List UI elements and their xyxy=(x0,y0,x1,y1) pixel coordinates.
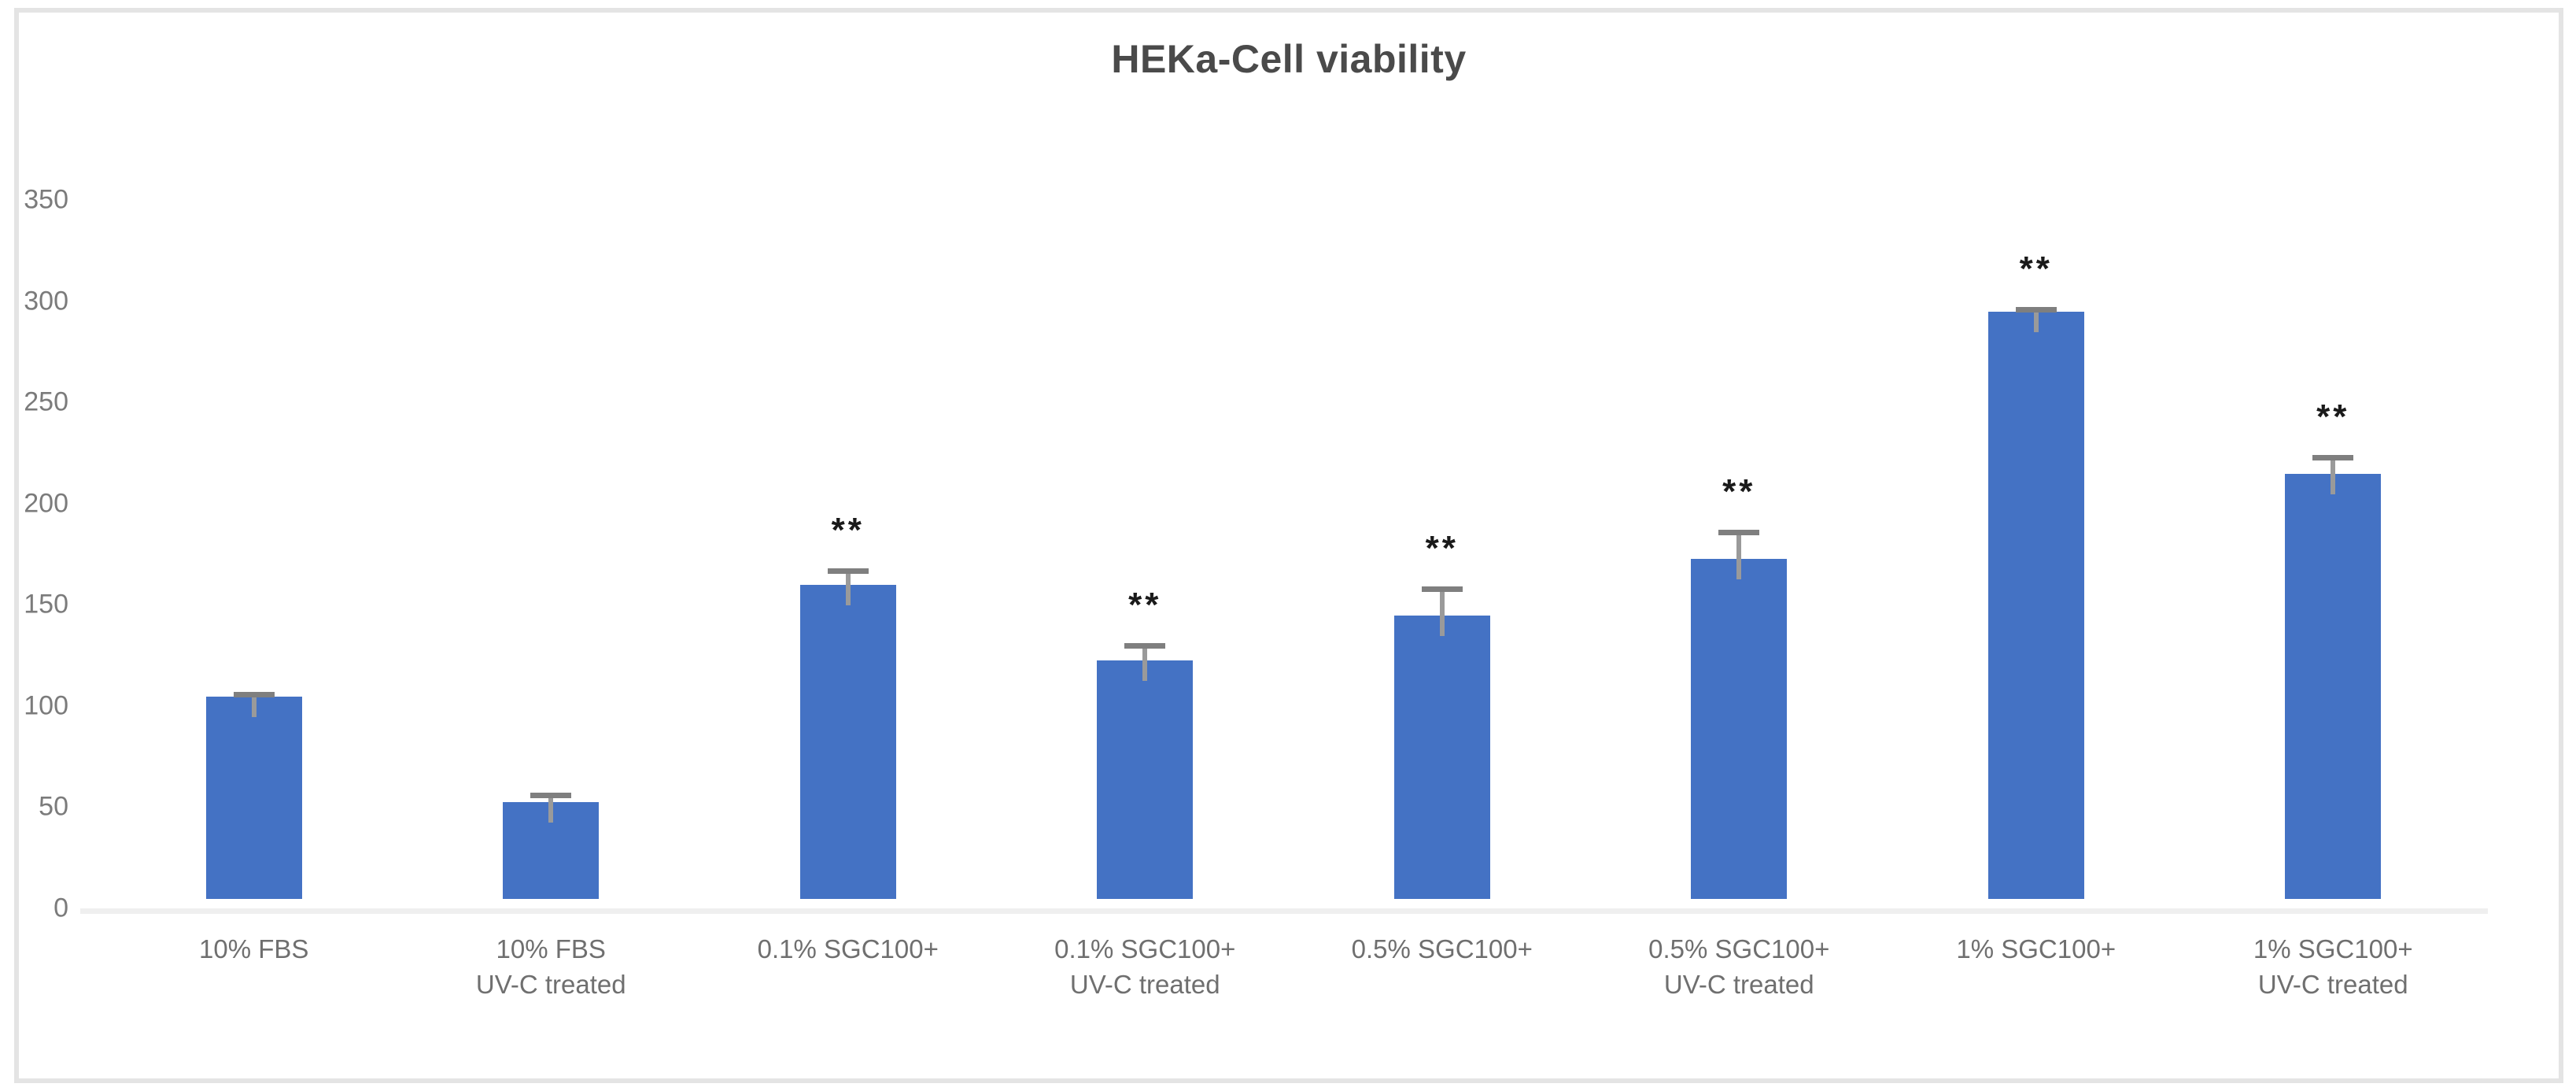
bar-group: ** xyxy=(1394,13,1490,1078)
y-axis-tick-label: 0 xyxy=(0,893,68,924)
bar xyxy=(1691,559,1787,899)
significance-marker: ** xyxy=(1691,475,1787,509)
bar xyxy=(2285,474,2381,899)
error-bar xyxy=(1736,530,1741,579)
significance-marker: ** xyxy=(1394,531,1490,566)
y-axis-tick-label: 50 xyxy=(0,792,68,823)
error-bar xyxy=(252,692,256,717)
chart-area: HEKa-Cell viability 05010015020025030035… xyxy=(19,13,2559,1078)
significance-marker: ** xyxy=(800,513,896,548)
figure-frame: HEKa-Cell viability 05010015020025030035… xyxy=(14,8,2563,1083)
bar xyxy=(1988,312,2084,899)
bar-group: ** xyxy=(1097,13,1193,1078)
x-axis-tick-label: 0.1% SGC100+ UV-C treated xyxy=(997,932,1294,1002)
error-bar-cap xyxy=(828,568,869,574)
error-bar-cap xyxy=(2016,307,2057,313)
bar-group xyxy=(503,13,599,1078)
x-axis-tick-label: 0.5% SGC100+ UV-C treated xyxy=(1591,932,1888,1002)
bar xyxy=(1097,660,1193,899)
error-bar xyxy=(2034,307,2039,332)
x-axis-tick-label: 10% FBS UV-C treated xyxy=(403,932,700,1002)
bar-group xyxy=(206,13,302,1078)
plot-region: 050100150200250300350 ************ 10% F… xyxy=(19,13,2559,1078)
error-bar-cap xyxy=(1718,530,1759,535)
x-axis-tick-label: 1% SGC100+ xyxy=(1888,932,2185,967)
bar-group: ** xyxy=(1988,13,2084,1078)
error-bar-cap xyxy=(1422,586,1463,592)
y-axis-tick-label: 150 xyxy=(0,590,68,620)
error-bar-cap xyxy=(530,793,571,798)
significance-marker: ** xyxy=(1988,252,2084,287)
bar xyxy=(1394,616,1490,899)
bar-group: ** xyxy=(2285,13,2381,1078)
x-axis-tick-label: 1% SGC100+ UV-C treated xyxy=(2185,932,2482,1002)
x-axis-tick-label: 0.5% SGC100+ xyxy=(1294,932,1591,967)
x-axis-tick-label: 10% FBS xyxy=(105,932,403,967)
y-axis-tick-label: 200 xyxy=(0,488,68,519)
bar-group: ** xyxy=(800,13,896,1078)
y-axis-tick-label: 100 xyxy=(0,690,68,721)
error-bar-cap xyxy=(1124,643,1165,649)
significance-marker: ** xyxy=(2285,400,2381,435)
error-bar-cap xyxy=(2312,455,2353,460)
bar xyxy=(206,697,302,899)
y-axis-tick-label: 250 xyxy=(0,387,68,418)
error-bar xyxy=(1142,643,1147,680)
y-axis-tick-label: 300 xyxy=(0,286,68,316)
bar-group: ** xyxy=(1691,13,1787,1078)
error-bar xyxy=(2331,455,2335,494)
error-bar xyxy=(1440,586,1445,636)
error-bar xyxy=(548,793,553,822)
error-bar xyxy=(846,568,851,605)
significance-marker: ** xyxy=(1097,588,1193,623)
y-axis-tick-label: 350 xyxy=(0,185,68,216)
x-axis-tick-label: 0.1% SGC100+ xyxy=(699,932,997,967)
x-axis-baseline xyxy=(80,908,2488,914)
bar xyxy=(800,585,896,899)
error-bar-cap xyxy=(234,692,275,697)
